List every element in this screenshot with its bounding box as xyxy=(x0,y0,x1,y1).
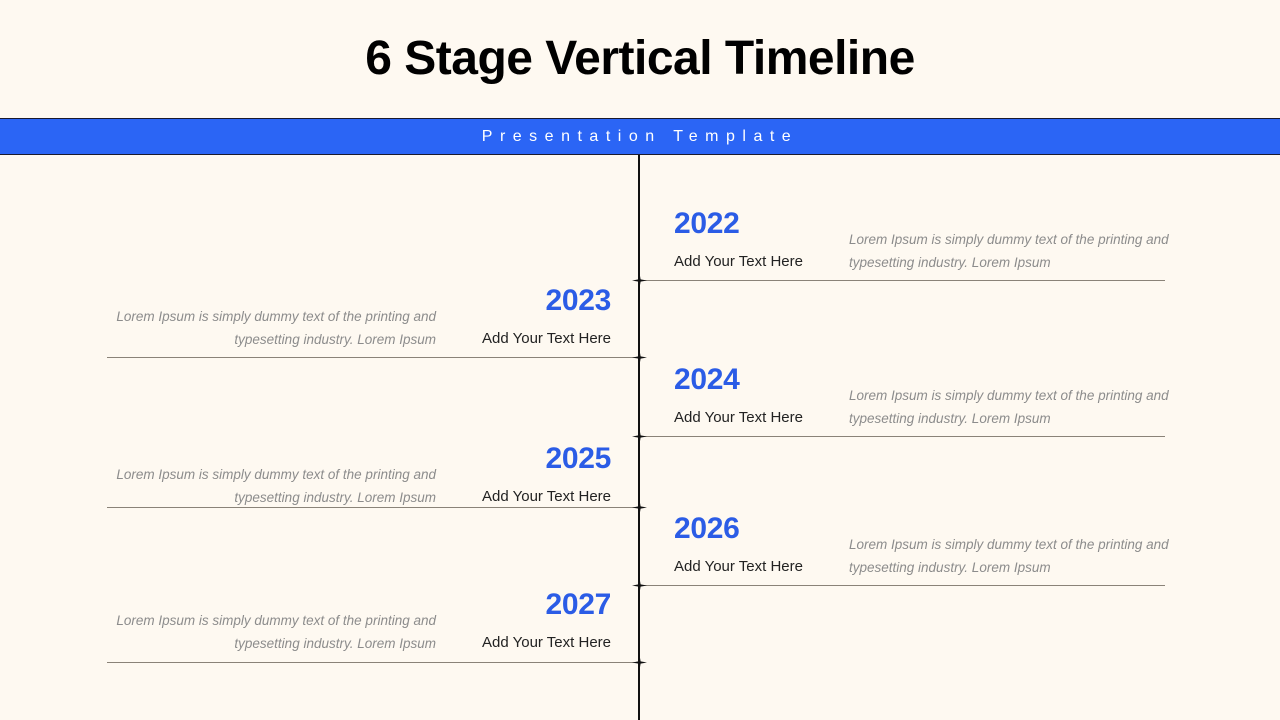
timeline-stage-2022[interactable]: 2022 Add Your Text Here Lorem Ipsum is s… xyxy=(674,208,1174,274)
stage-year: 2022 xyxy=(674,208,849,240)
stage-label[interactable]: Add Your Text Here xyxy=(436,488,611,506)
timeline-marker-diamond-icon xyxy=(632,578,647,593)
stage-description[interactable]: Lorem Ipsum is simply dummy text of the … xyxy=(107,589,436,655)
page-title: 6 Stage Vertical Timeline xyxy=(365,35,915,83)
timeline-stage-2025[interactable]: 2025 Add Your Text Here Lorem Ipsum is s… xyxy=(107,443,611,509)
stage-description[interactable]: Lorem Ipsum is simply dummy text of the … xyxy=(107,285,436,351)
stage-year: 2026 xyxy=(674,513,849,545)
timeline: 2022 Add Your Text Here Lorem Ipsum is s… xyxy=(0,155,1280,720)
stage-year: 2027 xyxy=(436,589,611,621)
timeline-marker-diamond-icon xyxy=(632,655,647,670)
timeline-marker-diamond-icon xyxy=(632,350,647,365)
stage-rule-2022 xyxy=(639,280,1165,281)
stage-year: 2023 xyxy=(436,285,611,317)
stage-head: 2026 Add Your Text Here xyxy=(674,513,849,576)
title-area: 6 Stage Vertical Timeline xyxy=(0,0,1280,118)
banner-label: Presentation Template xyxy=(482,128,798,146)
timeline-marker-diamond-icon xyxy=(632,273,647,288)
timeline-stage-2027[interactable]: 2027 Add Your Text Here Lorem Ipsum is s… xyxy=(107,589,611,655)
stage-rule-2024 xyxy=(639,436,1165,437)
stage-label[interactable]: Add Your Text Here xyxy=(436,330,611,348)
stage-rule-2023 xyxy=(107,357,639,358)
stage-head: 2024 Add Your Text Here xyxy=(674,364,849,427)
stage-head: 2025 Add Your Text Here xyxy=(436,443,611,506)
stage-year: 2025 xyxy=(436,443,611,475)
timeline-marker-diamond-icon xyxy=(632,500,647,515)
stage-description[interactable]: Lorem Ipsum is simply dummy text of the … xyxy=(849,208,1174,274)
stage-description[interactable]: Lorem Ipsum is simply dummy text of the … xyxy=(107,443,436,509)
stage-year: 2024 xyxy=(674,364,849,396)
timeline-stage-2026[interactable]: 2026 Add Your Text Here Lorem Ipsum is s… xyxy=(674,513,1174,579)
subtitle-banner: Presentation Template xyxy=(0,118,1280,155)
stage-rule-2026 xyxy=(639,585,1165,586)
timeline-marker-diamond-icon xyxy=(632,429,647,444)
stage-description[interactable]: Lorem Ipsum is simply dummy text of the … xyxy=(849,364,1174,430)
stage-head: 2022 Add Your Text Here xyxy=(674,208,849,271)
timeline-stage-2024[interactable]: 2024 Add Your Text Here Lorem Ipsum is s… xyxy=(674,364,1174,430)
stage-rule-2027 xyxy=(107,662,639,663)
stage-description[interactable]: Lorem Ipsum is simply dummy text of the … xyxy=(849,513,1174,579)
stage-label[interactable]: Add Your Text Here xyxy=(674,558,849,576)
stage-label[interactable]: Add Your Text Here xyxy=(674,409,849,427)
stage-head: 2023 Add Your Text Here xyxy=(436,285,611,348)
stage-label[interactable]: Add Your Text Here xyxy=(436,634,611,652)
stage-head: 2027 Add Your Text Here xyxy=(436,589,611,652)
timeline-stage-2023[interactable]: 2023 Add Your Text Here Lorem Ipsum is s… xyxy=(107,285,611,351)
stage-label[interactable]: Add Your Text Here xyxy=(674,253,849,271)
